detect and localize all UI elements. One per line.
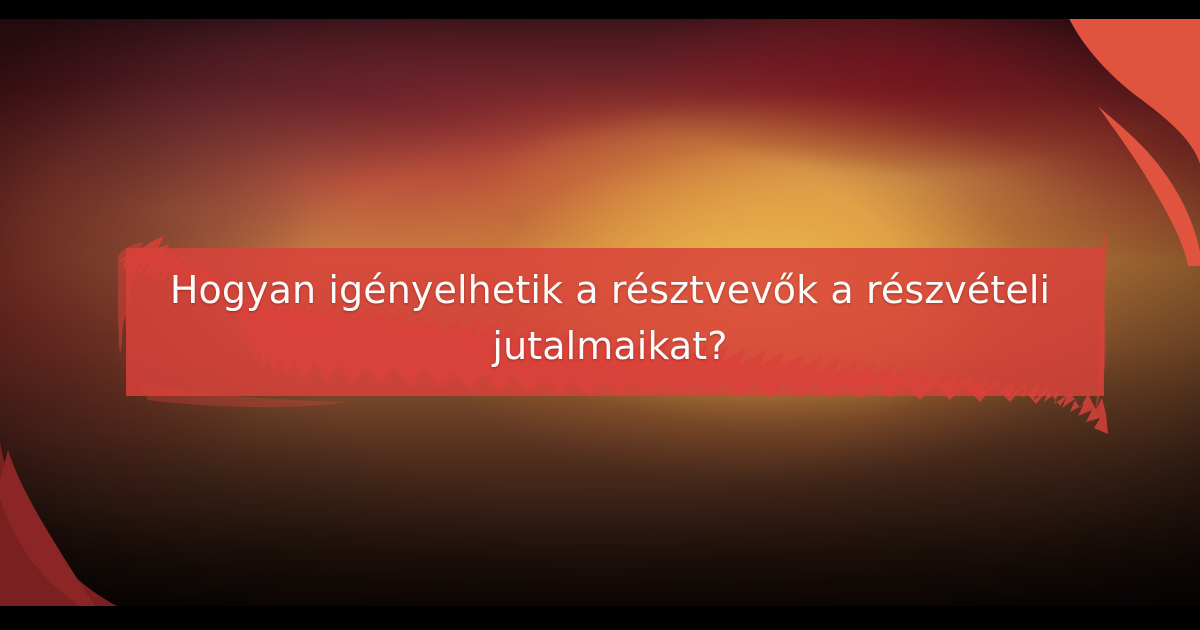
letterbox-bar-top xyxy=(0,0,1200,19)
letterbox-bar-bottom xyxy=(0,606,1200,630)
social-card: Hogyan igényelhetik a résztvevők a részv… xyxy=(0,0,1200,630)
headline: Hogyan igényelhetik a résztvevők a részv… xyxy=(160,262,1060,374)
headline-line-2: jutalmaikat? xyxy=(160,318,1060,374)
headline-line-1: Hogyan igényelhetik a résztvevők a részv… xyxy=(160,262,1060,318)
